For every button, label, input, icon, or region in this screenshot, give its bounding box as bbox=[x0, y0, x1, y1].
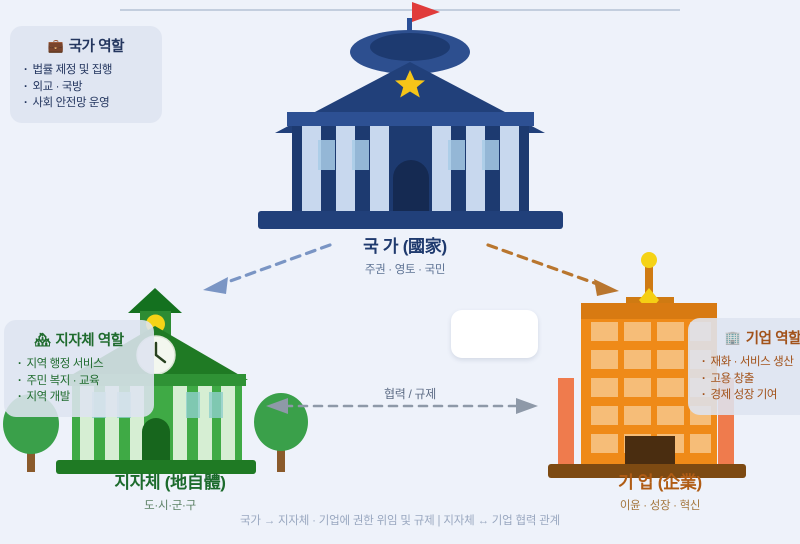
list-item: 경제 성장 기여 bbox=[702, 387, 800, 404]
list-item: 법률 제정 및 집행 bbox=[24, 62, 148, 79]
blank-note-card bbox=[451, 310, 538, 358]
node-subtitle-nation: 주권 · 영토 · 국민 bbox=[275, 261, 535, 277]
page-title: 국 가 (國家) bbox=[275, 232, 535, 257]
node-subtitle-local: 도·시·군·구 bbox=[40, 497, 300, 513]
gold-diamond-icon bbox=[639, 288, 659, 312]
node-label-corp: 기 업 (企業) 이윤 · 성장 · 혁신 bbox=[530, 468, 790, 513]
tree-right-icon bbox=[254, 393, 308, 472]
red-flag-icon bbox=[412, 2, 440, 22]
connector-label-local-corp: 협력 / 규제 bbox=[355, 385, 465, 402]
role-card-nation-title: 💼 국가 역할 bbox=[24, 35, 148, 56]
nation-building-graphic bbox=[258, 2, 563, 229]
role-card-corp: 🏢 기업 역할 재화 · 서비스 생산 고용 창출 경제 성장 기여 bbox=[688, 318, 800, 415]
role-card-local-title: 🏘 지자체 역할 bbox=[18, 329, 140, 350]
list-item: 지역 개발 bbox=[18, 389, 140, 406]
role-card-corp-list: 재화 · 서비스 생산 고용 창출 경제 성장 기여 bbox=[702, 354, 800, 404]
node-title-local: 지자체 (地自體) bbox=[40, 468, 300, 493]
diagram-canvas: 💼 국가 역할 법률 제정 및 집행 외교 · 국방 사회 안전망 운영 🏘 지… bbox=[0, 0, 800, 544]
list-item: 고용 창출 bbox=[702, 371, 800, 388]
office-building-icon: 🏢 bbox=[725, 331, 741, 344]
node-label-local: 지자체 (地自體) 도·시·군·구 bbox=[40, 468, 300, 513]
role-card-corp-title: 🏢 기업 역할 bbox=[702, 327, 800, 348]
gold-star-icon bbox=[395, 70, 425, 98]
list-item: 지역 행정 서비스 bbox=[18, 356, 140, 373]
footer-note: 국가 → 지자체 · 기업에 권한 위임 및 규제 | 지자체 ↔ 기업 협력 … bbox=[0, 512, 800, 528]
cityscape-icon: 🏘 bbox=[34, 333, 50, 346]
list-item: 주민 복지 · 교육 bbox=[18, 373, 140, 390]
role-card-nation-list: 법률 제정 및 집행 외교 · 국방 사회 안전망 운영 bbox=[24, 62, 148, 112]
antenna-light-icon bbox=[641, 252, 657, 268]
list-item: 외교 · 국방 bbox=[24, 79, 148, 96]
role-card-local: 🏘 지자체 역할 지역 행정 서비스 주민 복지 · 교육 지역 개발 bbox=[4, 320, 154, 417]
list-item: 재화 · 서비스 생산 bbox=[702, 354, 800, 371]
node-label-nation: 국 가 (國家) 주권 · 영토 · 국민 bbox=[275, 232, 535, 277]
top-divider-rule bbox=[120, 9, 680, 11]
role-card-nation: 💼 국가 역할 법률 제정 및 집행 외교 · 국방 사회 안전망 운영 bbox=[10, 26, 162, 123]
list-item: 사회 안전망 운영 bbox=[24, 95, 148, 112]
node-title-corp: 기 업 (企業) bbox=[530, 468, 790, 493]
role-card-local-list: 지역 행정 서비스 주민 복지 · 교육 지역 개발 bbox=[18, 356, 140, 406]
briefcase-icon: 💼 bbox=[48, 39, 64, 52]
node-subtitle-corp: 이윤 · 성장 · 혁신 bbox=[530, 497, 790, 513]
